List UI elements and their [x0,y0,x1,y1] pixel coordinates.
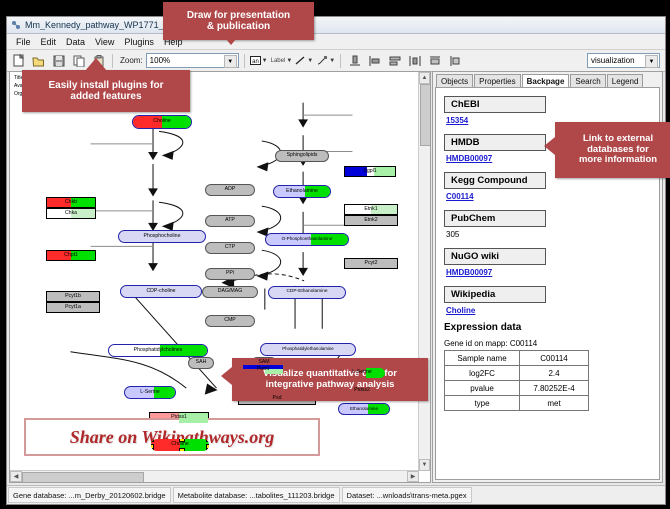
node-label: Ptdss2 [354,388,370,393]
save-disk-icon[interactable] [50,52,67,69]
resize-handle-n[interactable] [179,438,185,442]
node-etnk1[interactable]: Etnk1 [344,204,398,215]
canvas-horizontal-scrollbar[interactable]: ◀ ▶ [10,470,419,482]
tab-backpage[interactable]: Backpage [522,74,570,88]
nugo-wiki-header: NuGO wiki [444,248,546,265]
node-label: Sgpl1 [363,169,376,174]
node-pcyt1a[interactable]: Pcyt1a [46,302,100,313]
annotation-draw-line1: Draw for presentation [187,10,290,22]
interaction-button[interactable]: ▼ [316,55,335,66]
node-label: SAM [258,360,269,365]
node-adp[interactable]: ADP [205,184,255,196]
annotation-link-callout: Link to external databases for more info… [555,122,670,178]
node-pcyt2[interactable]: Pcyt2 [344,258,398,269]
toolbar-separator-3 [340,54,341,68]
node-label: Psd [273,396,282,401]
node-label: Phosphatidylcholines [134,348,183,353]
node-label: Chka [65,211,77,216]
pubchem-header: PubChem [444,210,546,227]
node-ppi[interactable]: PPi [205,268,255,280]
node-phosphocholine[interactable]: Phosphocholine [118,230,206,243]
node-etnk2[interactable]: Etnk2 [344,215,398,226]
node-cdp-ethanolamine[interactable]: CDP-Ethanolamine [268,286,346,299]
status-bar: Gene database: ...m_Derby_20120602.bridg… [7,485,665,504]
status-gene-database: Gene database: ...m_Derby_20120602.bridg… [8,487,171,503]
menu-item-file[interactable]: File [11,37,36,47]
row-value: C00114 [520,351,589,366]
node-sphingolipids[interactable]: Sphingolipids [275,150,329,162]
menu-item-plugins[interactable]: Plugins [119,37,159,47]
tab-search[interactable]: Search [570,74,605,87]
chevron-down-icon[interactable]: ▼ [224,55,237,68]
hmdb-header: HMDB [444,134,546,151]
kegg-compound-link[interactable]: C00114 [446,192,651,201]
chevron-down-icon[interactable]: ▼ [307,58,313,64]
annotation-plugins-callout: Easily install plugins for added feature… [22,70,190,112]
label-button[interactable]: Label ▼ [271,58,293,64]
row-key: pvalue [445,381,520,396]
svg-text:an: an [252,59,259,65]
status-dataset: Dataset: ...wnloads\trans-meta.pgex [342,487,472,503]
screenshot-root: Mm_Kennedy_pathway_WP1771_45176.gpml Fil… [0,0,670,509]
node-label: CTP [225,245,235,250]
node-phosphatidylcholines[interactable]: Phosphatidylcholines [108,344,208,357]
gene-id-line: Gene id on mapp: C00114 [444,339,651,348]
table-row: type met [445,396,589,411]
menu-item-edit[interactable]: Edit [36,37,62,47]
tab-properties[interactable]: Properties [474,74,520,87]
expression-data-heading: Expression data [444,322,651,333]
node-chpt1[interactable]: Chpt1 [46,250,96,261]
annotation-link-arrow-icon [544,137,555,155]
node-label: Phosphocholine [144,234,181,239]
node-label: O-Phosphoethanolamine [282,237,333,242]
wikipedia-link[interactable]: Choline [446,306,651,315]
chevron-down-icon[interactable]: ▼ [262,58,268,64]
node-label: Choline [171,442,189,447]
zoom-label: Zoom: [120,56,143,65]
node-label: CDP-choline [146,289,175,294]
visualization-value: visualization [591,56,635,65]
resize-handle-nw[interactable] [150,438,154,442]
distribute-icon[interactable] [406,52,423,69]
toolbar-separator-2 [244,54,245,68]
node-label: ATP [225,218,235,223]
node-sgpl1[interactable]: Sgpl1 [344,166,396,177]
align-top-icon[interactable] [346,52,363,69]
node-label: Chpt1 [64,253,78,258]
toolbar-separator-1 [112,54,113,68]
node-l-serine-left[interactable]: L-Serine [124,386,176,399]
row-value: 7.80252E-4 [520,381,589,396]
datanode-button[interactable]: an ▼ [250,55,268,66]
chevron-down-icon[interactable]: ▼ [286,58,292,64]
node-pcyt1b[interactable]: Pcyt1b [46,291,100,302]
annotation-draw-arrow-icon [220,32,242,45]
annotation-plugins-line1: Easily install plugins for [48,80,163,92]
vertical-scroll-thumb[interactable] [420,84,431,146]
node-label: L-Serine [352,370,372,375]
menu-bar: File Edit Data View Plugins Help [7,34,665,50]
node-label: Pcyt1a [65,305,81,310]
node-label: Ethanolamine [286,189,318,194]
annotation-plugins-arrow-icon [85,58,107,71]
annotation-plugins-line2: added features [70,91,141,103]
annotation-draw-line2: & publication [207,21,270,33]
align-stack-icon[interactable] [386,52,403,69]
node-choline-selected[interactable]: Choline [150,438,210,452]
horizontal-scroll-thumb[interactable] [22,472,144,483]
scroll-left-icon[interactable]: ◀ [10,471,22,482]
annotation-link-line3: more information [579,155,657,166]
node-label: CMP [224,318,236,323]
node-label: Etnk1 [364,207,377,212]
annotation-link-line1: Link to external [583,134,653,145]
node-label: Sphingolipids [287,153,318,158]
chevron-down-icon[interactable]: ▼ [645,55,658,68]
node-label: Chkb [65,200,77,205]
app-icon [11,20,21,30]
label-button-text: Label [271,58,286,64]
table-row: Sample name C00114 [445,351,589,366]
tab-objects[interactable]: Objects [436,74,473,87]
annotation-visualize-arrow-icon [221,367,232,385]
side-panel-tabs: Objects Properties Backpage Search Legen… [433,72,662,87]
node-label: PPi [226,271,234,276]
nugo-wiki-link[interactable]: HMDB00097 [446,268,651,277]
node-label: Pcyt2 [365,261,378,266]
chebi-header: ChEBI [444,96,546,113]
node-ctp[interactable]: CTP [205,242,255,254]
new-document-icon[interactable] [10,52,27,69]
pubchem-value: 305 [446,230,651,239]
expression-table: Sample name C00114 log2FC 2.4 pvalue 7.8… [444,350,589,411]
node-label: Etnk2 [364,218,377,223]
table-row: log2FC 2.4 [445,366,589,381]
node-label: Ptdss1 [171,415,187,420]
row-key: log2FC [445,366,520,381]
common-height-icon[interactable] [446,52,463,69]
node-label: Choline [153,119,171,124]
scroll-down-icon[interactable]: ▼ [419,459,430,471]
scroll-right-icon[interactable]: ▶ [407,471,419,482]
menu-item-data[interactable]: Data [61,37,90,47]
node-label: Pcyt1b [65,294,81,299]
node-o-phosphoethanolamine[interactable]: O-Phosphoethanolamine [265,233,349,246]
row-value: 2.4 [520,366,589,381]
scroll-up-icon[interactable]: ▲ [419,72,430,84]
row-value: met [520,396,589,411]
node-ethanolamine-right[interactable]: Ethanolamine [338,403,390,415]
node-cmp[interactable]: CMP [205,315,255,327]
annotation-visualize-line2: integrative pathway analysis [266,380,395,391]
menu-item-view[interactable]: View [90,37,119,47]
table-row: pvalue 7.80252E-4 [445,381,589,396]
node-label: DAG/MAG [218,289,243,294]
row-key: type [445,396,520,411]
chevron-down-icon[interactable]: ▼ [329,58,335,64]
node-label: Phosphatidylethanolamine [282,347,334,351]
wikipedia-header: Wikipedia [444,286,546,303]
canvas-vertical-scrollbar[interactable]: ▲ ▼ [418,72,430,471]
node-chkb[interactable]: Chkb [46,197,96,208]
zoom-value: 100% [150,56,170,65]
node-sah[interactable]: SAH [188,357,214,369]
node-chka[interactable]: Chka [46,208,96,219]
node-label: ADP [225,187,236,192]
node-phosphatidylethanolamine[interactable]: Phosphatidylethanolamine [260,343,356,356]
node-label: L-Serine [140,390,160,395]
row-key: Sample name [445,351,520,366]
node-cdp-choline[interactable]: CDP-choline [120,285,202,298]
node-label: Pemt [257,367,269,372]
common-width-icon[interactable] [426,52,443,69]
open-folder-icon[interactable] [30,52,47,69]
node-label: Ethanolamine [350,407,378,412]
node-ethanolamine-top[interactable]: Ethanolamine [273,185,331,198]
zoom-combo[interactable]: 100% ▼ [146,53,239,68]
title-bar: Mm_Kennedy_pathway_WP1771_45176.gpml [7,17,665,34]
node-label: SAH [196,360,207,365]
line-button[interactable]: ▼ [295,55,313,66]
node-choline-top[interactable]: Choline [132,115,192,129]
node-atp[interactable]: ATP [205,215,255,227]
node-dag-mag[interactable]: DAG/MAG [202,286,258,298]
node-label: CDP-Ethanolamine [286,290,327,295]
visualization-combo[interactable]: visualization ▼ [587,53,660,68]
tab-legend[interactable]: Legend [607,74,644,87]
status-metabolite-database: Metabolite database: ...tabolites_111203… [173,487,340,503]
kegg-compound-header: Kegg Compound [444,172,546,189]
align-left-icon[interactable] [366,52,383,69]
